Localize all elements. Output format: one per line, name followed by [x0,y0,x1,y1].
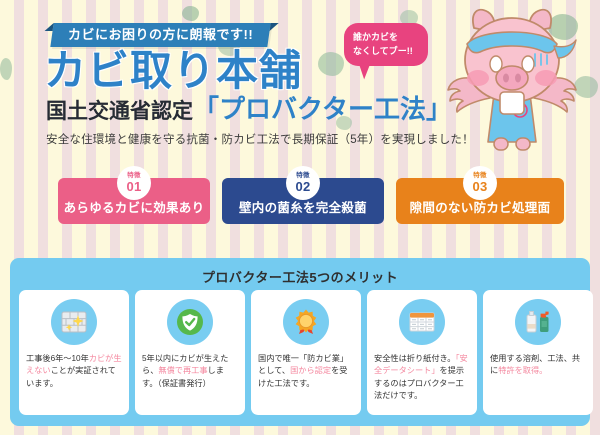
merit-card-list: 工事後6年～10年カビが生えないことが実証されています。 5年以内にカビが生えた… [19,290,593,415]
speech-line-1: 誰かカビを [353,31,419,45]
landing-page: カビにお困りの方に朗報です!! カビ取り本舗 国土交通省認定「プロバクター工法」… [0,0,600,435]
announcement-ribbon-label: カビにお困りの方に朗報です!! [68,23,253,47]
feature-box-1[interactable]: 特徴 01 あらゆるカビに効果あり [58,178,210,224]
data-sheet-icon [399,299,445,345]
merit-card[interactable]: 安全性は折り紙付き。「安全データシート」を提示するのはプロバクター工法だけです。 [367,290,477,415]
merits-title: プロバクター工法5つのメリット [10,258,590,286]
page-title: カビ取り本舗 [44,50,302,92]
merit-text-highlight: 無償で再工事 [158,366,207,375]
subtitle: 国土交通省認定「プロバクター工法」 [46,96,452,122]
gold-medal-icon [283,299,329,345]
feature-badge-2: 特徴 02 [286,166,320,200]
feature-badge-number: 03 [472,180,487,193]
merit-card-text: 使用する溶剤、工法、共に特許を取得。 [490,353,586,378]
spray-bottles-icon [515,299,561,345]
feature-badge-number: 01 [126,180,141,193]
mold-blob-decoration [318,52,344,76]
merit-card[interactable]: 工事後6年～10年カビが生えないことが実証されています。 [19,290,129,415]
feature-badge-number: 02 [295,180,310,193]
feature-badge-3: 特徴 03 [463,166,497,200]
merit-card-text: 5年以内にカビが生えたら、無償で再工事します。（保証書発行） [142,353,238,390]
subtitle-emphasis: 「プロバクター工法」 [193,94,452,124]
brick-wall-sparkle-icon [51,299,97,345]
merit-card-text: 安全性は折り紙付き。「安全データシート」を提示するのはプロバクター工法だけです。 [374,353,470,402]
speech-line-2: なくしてブー!! [353,45,419,59]
merit-text-part: 工事後6年～10年 [26,354,89,363]
feature-box-3[interactable]: 特徴 03 隙間のない防カビ処理面 [396,178,564,224]
feature-box-list: 特徴 01 あらゆるカビに効果あり 特徴 02 壁内の菌糸を完全殺菌 特徴 03… [0,168,600,228]
merit-text-part: 安全性は折り紙付き。 [374,354,455,363]
lede-text: 安全な住環境と健康を守る抗菌・防カビ工法で長期保証（5年）を実現しました！ [46,131,474,147]
mascot-speech-bubble: 誰かカビを なくしてブー!! [344,23,428,66]
announcement-ribbon: カビにお困りの方に朗報です!! [50,23,271,47]
merit-card-text: 国内で唯一「防カビ業」として、国から認定を受けた工法です。 [258,353,354,390]
subtitle-prefix: 国土交通省認定 [46,100,193,123]
feature-box-2[interactable]: 特徴 02 壁内の菌糸を完全殺菌 [222,178,384,224]
merit-card-text: 工事後6年～10年カビが生えないことが実証されています。 [26,353,122,390]
merit-card[interactable]: 国内で唯一「防カビ業」として、国から認定を受けた工法です。 [251,290,361,415]
merit-card[interactable]: 5年以内にカビが生えたら、無償で再工事します。（保証書発行） [135,290,245,415]
mold-blob-decoration [0,58,12,80]
merit-text-highlight: 国から認定 [290,366,331,375]
merit-text-highlight: 特許を取得。 [498,366,547,375]
merit-card[interactable]: 使用する溶剤、工法、共に特許を取得。 [483,290,593,415]
pig-mascot-icon [432,2,592,154]
merits-panel: プロバクター工法5つのメリット [10,258,590,426]
mold-blob-decoration [182,6,199,21]
green-shield-check-icon [167,299,213,345]
feature-badge-1: 特徴 01 [117,166,151,200]
